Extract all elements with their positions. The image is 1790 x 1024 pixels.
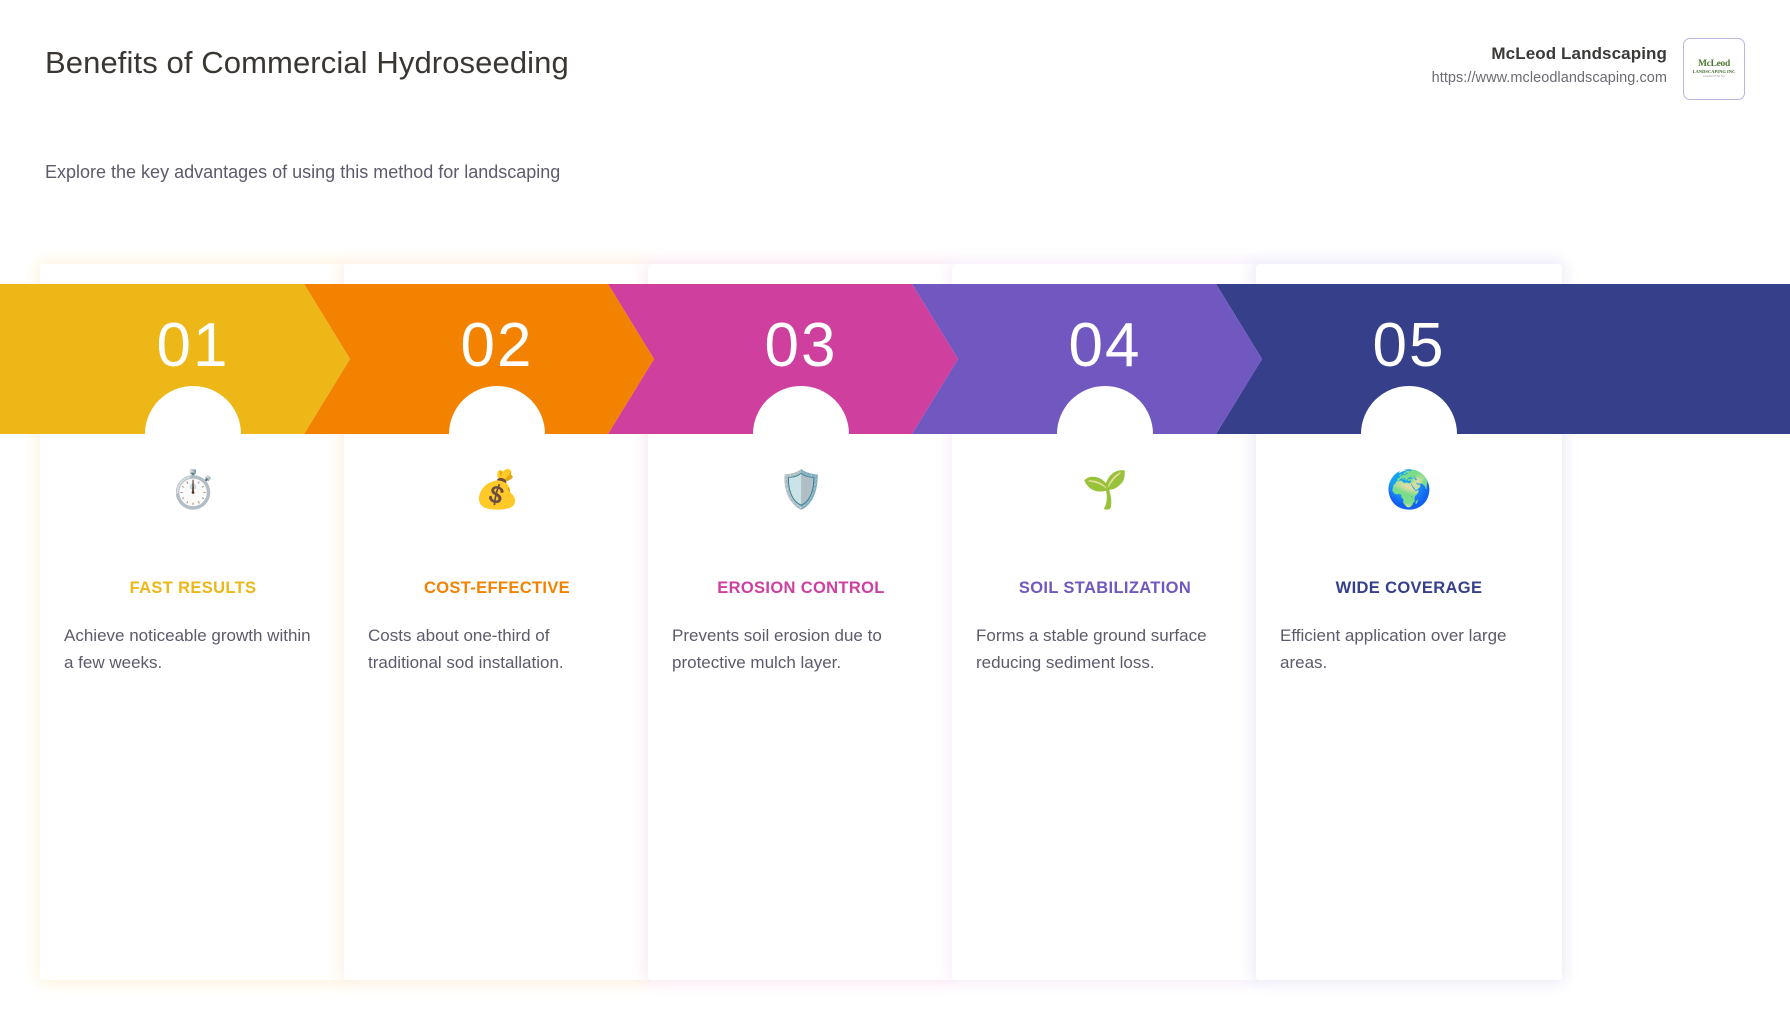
step-description: Costs about one-third of traditional sod…: [368, 622, 626, 676]
step-heading: WIDE COVERAGE: [1274, 579, 1544, 598]
step-cards: ⏱️FAST RESULTSAchieve noticeable growth …: [0, 264, 1790, 984]
page-title: Benefits of Commercial Hydroseeding: [45, 36, 685, 90]
step-description: Efficient application over large areas.: [1280, 622, 1538, 676]
step-card-body: 💰COST-EFFECTIVECosts about one-third of …: [344, 264, 650, 980]
step-description: Prevents soil erosion due to protective …: [672, 622, 930, 676]
step-card-01[interactable]: ⏱️FAST RESULTSAchieve noticeable growth …: [40, 264, 346, 980]
brand-url[interactable]: https://www.mcleodlandscaping.com: [1432, 70, 1667, 86]
step-card-05[interactable]: 🌍WIDE COVERAGEEfficient application over…: [1256, 264, 1562, 980]
step-card-03[interactable]: 🛡️EROSION CONTROLPrevents soil erosion d…: [648, 264, 954, 980]
step-card-04[interactable]: 🌱SOIL STABILIZATIONForms a stable ground…: [952, 264, 1258, 980]
step-card-body: 🌱SOIL STABILIZATIONForms a stable ground…: [952, 264, 1258, 980]
brand-logo: McLeod LANDSCAPING INC CHARLOTTE NC: [1683, 38, 1745, 100]
step-card-body: ⏱️FAST RESULTSAchieve noticeable growth …: [40, 264, 346, 980]
infographic-page: Benefits of Commercial Hydroseeding Expl…: [0, 0, 1790, 1024]
step-description: Achieve noticeable growth within a few w…: [64, 622, 322, 676]
shield-icon: 🛡️: [648, 469, 954, 511]
stopwatch-icon: ⏱️: [40, 469, 346, 511]
step-heading: FAST RESULTS: [58, 579, 328, 598]
brand-block: McLeod Landscaping https://www.mcleodlan…: [1432, 38, 1745, 100]
step-card-body: 🌍WIDE COVERAGEEfficient application over…: [1256, 264, 1562, 980]
page-header: Benefits of Commercial Hydroseeding Expl…: [0, 0, 1790, 230]
money-bag-icon: 💰: [344, 469, 650, 511]
brand-text: McLeod Landscaping https://www.mcleodlan…: [1432, 38, 1667, 86]
step-description: Forms a stable ground surface reducing s…: [976, 622, 1234, 676]
step-heading: EROSION CONTROL: [666, 579, 936, 598]
seedling-icon: 🌱: [952, 469, 1258, 511]
globe-icon: 🌍: [1256, 469, 1562, 511]
step-heading: SOIL STABILIZATION: [970, 579, 1240, 598]
logo-tagline: CHARLOTTE NC: [1703, 75, 1726, 79]
page-subtitle: Explore the key advantages of using this…: [45, 157, 585, 188]
brand-name: McLeod Landscaping: [1432, 44, 1667, 64]
step-card-02[interactable]: 💰COST-EFFECTIVECosts about one-third of …: [344, 264, 650, 980]
step-heading: COST-EFFECTIVE: [362, 579, 632, 598]
step-card-body: 🛡️EROSION CONTROLPrevents soil erosion d…: [648, 264, 954, 980]
logo-wordmark: McLeod: [1698, 59, 1730, 69]
